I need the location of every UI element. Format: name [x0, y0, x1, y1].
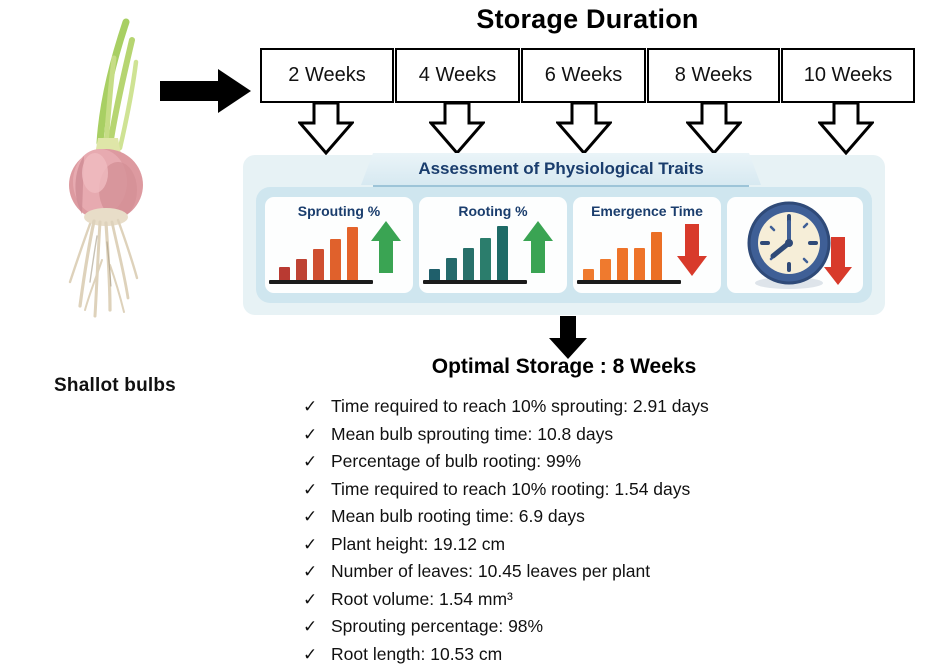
finding-text: Time required to reach 10% rooting: 1.54… — [331, 479, 690, 500]
chart-baseline — [269, 280, 373, 284]
list-item: ✓ Mean bulb rooting time: 6.9 days — [303, 506, 903, 534]
figure-canvas: Shallot bulbs Storage Duration 2 Weeks 4… — [0, 0, 933, 665]
check-icon: ✓ — [303, 398, 331, 415]
trait-card-emergence-time[interactable]: Emergence Time — [573, 197, 721, 293]
finding-text: Sprouting percentage: 98% — [331, 616, 543, 637]
finding-text: Percentage of bulb rooting: 99% — [331, 451, 581, 472]
week-box-label: 8 Weeks — [675, 64, 752, 87]
shallot-bulb-label: Shallot bulbs — [20, 375, 210, 397]
check-icon: ✓ — [303, 618, 331, 635]
check-icon: ✓ — [303, 453, 331, 470]
week-box-8[interactable]: 8 Weeks — [647, 48, 780, 103]
trait-card-rooting[interactable]: Rooting % — [419, 197, 567, 293]
finding-text: Root volume: 1.54 mm³ — [331, 589, 513, 610]
assessment-panel: Assessment of Physiological Traits Sprou… — [243, 155, 885, 315]
check-icon: ✓ — [303, 646, 331, 663]
week-box-label: 10 Weeks — [804, 64, 893, 87]
bar-chart-icon — [429, 222, 517, 280]
week-box-6[interactable]: 6 Weeks — [521, 48, 646, 103]
assessment-inner-frame: Sprouting % Rooting % — [256, 187, 872, 303]
week-box-label: 2 Weeks — [288, 64, 365, 87]
assessment-banner: Assessment of Physiological Traits — [361, 153, 761, 185]
week-box-10[interactable]: 10 Weeks — [781, 48, 915, 103]
check-icon: ✓ — [303, 591, 331, 608]
check-icon: ✓ — [303, 426, 331, 443]
list-item: ✓ Mean bulb sprouting time: 10.8 days — [303, 424, 903, 452]
shallot-bulb-image — [40, 10, 200, 340]
list-item: ✓ Time required to reach 10% sprouting: … — [303, 396, 903, 424]
list-item: ✓ Time required to reach 10% rooting: 1.… — [303, 479, 903, 507]
optimal-storage-heading: Optimal Storage : 8 Weeks — [243, 355, 885, 379]
list-item: ✓ Percentage of bulb rooting: 99% — [303, 451, 903, 479]
week-box-label: 4 Weeks — [419, 64, 496, 87]
down-arrow-icon — [548, 316, 588, 360]
finding-text: Mean bulb rooting time: 6.9 days — [331, 506, 585, 527]
trait-card-sprouting[interactable]: Sprouting % — [265, 197, 413, 293]
check-icon: ✓ — [303, 536, 331, 553]
list-item: ✓ Sprouting percentage: 98% — [303, 616, 903, 644]
list-item: ✓ Root length: 10.53 cm — [303, 644, 903, 671]
right-arrow-icon — [160, 68, 252, 114]
trend-up-arrow-icon — [370, 219, 402, 280]
check-icon: ✓ — [303, 481, 331, 498]
list-item: ✓ Plant height: 19.12 cm — [303, 534, 903, 562]
trait-card-clock[interactable] — [727, 197, 863, 293]
list-item: ✓ Root volume: 1.54 mm³ — [303, 589, 903, 617]
findings-list: ✓ Time required to reach 10% sprouting: … — [303, 396, 903, 671]
chart-baseline — [423, 280, 527, 284]
finding-text: Number of leaves: 10.45 leaves per plant — [331, 561, 650, 582]
week-box-label: 6 Weeks — [545, 64, 622, 87]
trait-card-title: Emergence Time — [573, 203, 721, 219]
week-box-2[interactable]: 2 Weeks — [260, 48, 394, 103]
down-arrow-icon-5 — [818, 103, 874, 155]
bar-chart-icon — [583, 222, 671, 280]
trend-down-arrow-icon — [823, 235, 853, 292]
list-item: ✓ Number of leaves: 10.45 leaves per pla… — [303, 561, 903, 589]
finding-text: Time required to reach 10% sprouting: 2.… — [331, 396, 709, 417]
down-arrow-icon-2 — [429, 103, 485, 155]
trait-card-title: Rooting % — [419, 203, 567, 219]
finding-text: Mean bulb sprouting time: 10.8 days — [331, 424, 613, 445]
down-arrow-icon-4 — [686, 103, 742, 155]
finding-text: Root length: 10.53 cm — [331, 644, 502, 665]
finding-text: Plant height: 19.12 cm — [331, 534, 505, 555]
trait-card-title: Sprouting % — [265, 203, 413, 219]
chart-baseline — [577, 280, 681, 284]
page-title: Storage Duration — [260, 4, 915, 35]
bar-chart-icon — [275, 222, 363, 280]
trend-up-arrow-icon — [522, 219, 554, 280]
check-icon: ✓ — [303, 563, 331, 580]
week-box-4[interactable]: 4 Weeks — [395, 48, 520, 103]
check-icon: ✓ — [303, 508, 331, 525]
down-arrow-icon-1 — [298, 103, 354, 155]
trend-down-arrow-icon — [676, 222, 708, 283]
down-arrow-icon-3 — [556, 103, 612, 155]
